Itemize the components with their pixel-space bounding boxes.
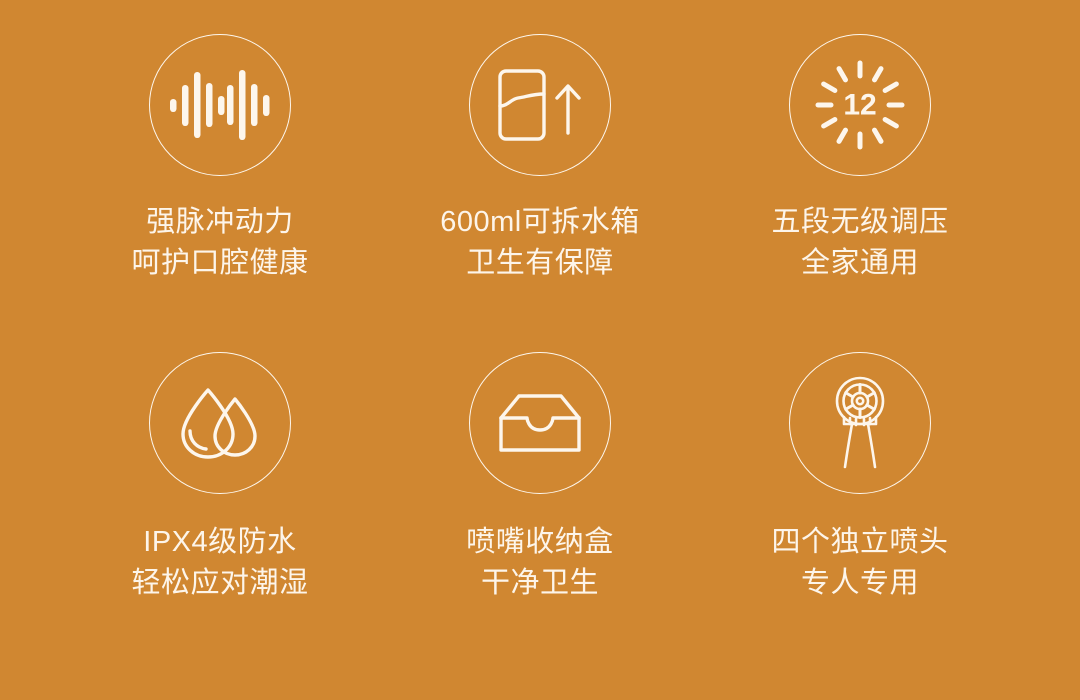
feature-caption: 喷嘴收纳盒 干净卫生 (466, 522, 614, 604)
feature-caption: IPX4级防水 轻松应对潮湿 (131, 522, 308, 604)
feature-caption: 四个独立喷头 专人专用 (771, 522, 948, 604)
pressure-level-value: 12 (843, 89, 876, 122)
icon-circle (469, 352, 611, 494)
spray-nozzle-icon (825, 375, 895, 471)
caption-line-1: IPX4级防水 (131, 522, 308, 563)
caption-line-1: 五段无级调压 (771, 202, 948, 243)
water-tank-icon (494, 65, 586, 145)
caption-line-1: 强脉冲动力 (131, 202, 308, 243)
caption-line-1: 四个独立喷头 (771, 522, 948, 563)
water-drops-icon (175, 383, 265, 463)
feature-card-storage-box: 喷嘴收纳盒 干净卫生 (380, 352, 700, 670)
icon-circle (149, 34, 291, 176)
caption-line-1: 600ml可拆水箱 (440, 202, 640, 243)
feature-caption: 五段无级调压 全家通用 (771, 202, 948, 284)
feature-card-pulse-power: 强脉冲动力 呵护口腔健康 (60, 34, 380, 352)
caption-line-1: 喷嘴收纳盒 (466, 522, 614, 563)
icon-circle: 12 (789, 34, 931, 176)
caption-line-2: 呵护口腔健康 (131, 243, 308, 284)
caption-line-2: 轻松应对潮湿 (131, 563, 308, 604)
caption-line-2: 专人专用 (771, 563, 948, 604)
feature-grid: 强脉冲动力 呵护口腔健康 600ml可拆水箱 卫生有保障 (0, 0, 1080, 700)
storage-box-icon (497, 392, 583, 454)
icon-circle (149, 352, 291, 494)
pressure-burst-icon: 12 (814, 59, 906, 151)
feature-caption: 600ml可拆水箱 卫生有保障 (440, 202, 640, 284)
icon-circle (789, 352, 931, 494)
caption-line-2: 卫生有保障 (440, 243, 640, 284)
feature-caption: 强脉冲动力 呵护口腔健康 (131, 202, 308, 284)
caption-line-2: 干净卫生 (466, 563, 614, 604)
feature-card-waterproof: IPX4级防水 轻松应对潮湿 (60, 352, 380, 670)
waveform-icon (168, 66, 272, 144)
feature-card-water-tank: 600ml可拆水箱 卫生有保障 (380, 34, 700, 352)
feature-card-nozzles: 四个独立喷头 专人专用 (700, 352, 1020, 670)
feature-card-pressure-levels: 12 五段无级调压 全家通用 (700, 34, 1020, 352)
icon-circle (469, 34, 611, 176)
caption-line-2: 全家通用 (771, 243, 948, 284)
